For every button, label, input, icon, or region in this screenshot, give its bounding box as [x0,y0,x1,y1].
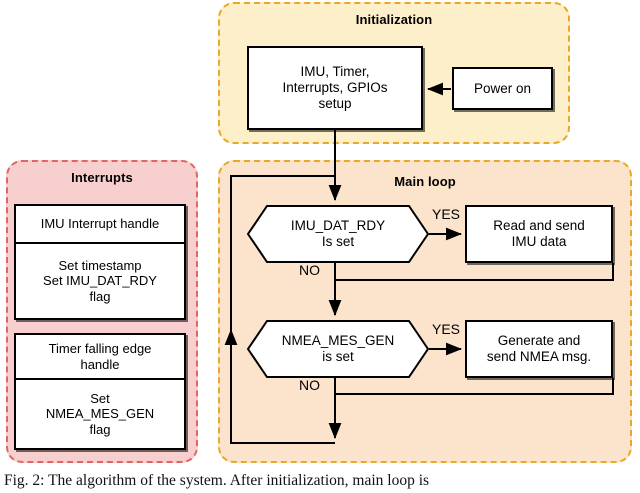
decision-nmea-mes-gen: NMEA_MES_GEN is set [247,320,429,378]
edge-label-no-2: NO [299,377,320,393]
interrupt-timer-header: Timer falling edge handle [16,335,184,380]
figure-flowchart: Interrupts IMU Interrupt handle Set time… [0,0,640,465]
figure-caption: Fig. 2: The algorithm of the system. Aft… [0,472,640,490]
process-box-read-imu-data: Read and send IMU data [465,205,613,263]
panel-main-loop-title: Main loop [220,174,630,189]
interrupt-imu-body: Set timestamp Set IMU_DAT_RDY flag [16,244,184,318]
process-box-power-on: Power on [452,67,553,110]
panel-initialization-title: Initialization [220,12,568,27]
interrupt-imu-header: IMU Interrupt handle [16,206,184,244]
interrupt-group-timer: Timer falling edge handle Set NMEA_MES_G… [14,333,186,450]
edge-label-no-1: NO [299,262,320,278]
edge-label-yes-2: YES [432,321,460,337]
interrupt-group-imu: IMU Interrupt handle Set timestamp Set I… [14,204,186,320]
panel-interrupts-title: Interrupts [8,170,196,185]
decision-imu-dat-rdy: IMU_DAT_RDY Is set [247,205,429,263]
process-box-setup: IMU, Timer, Interrupts, GPIOs setup [247,46,423,130]
process-box-generate-nmea: Generate and send NMEA msg. [465,320,613,378]
edge-label-yes-1: YES [432,206,460,222]
interrupt-timer-body: Set NMEA_MES_GEN flag [16,380,184,448]
